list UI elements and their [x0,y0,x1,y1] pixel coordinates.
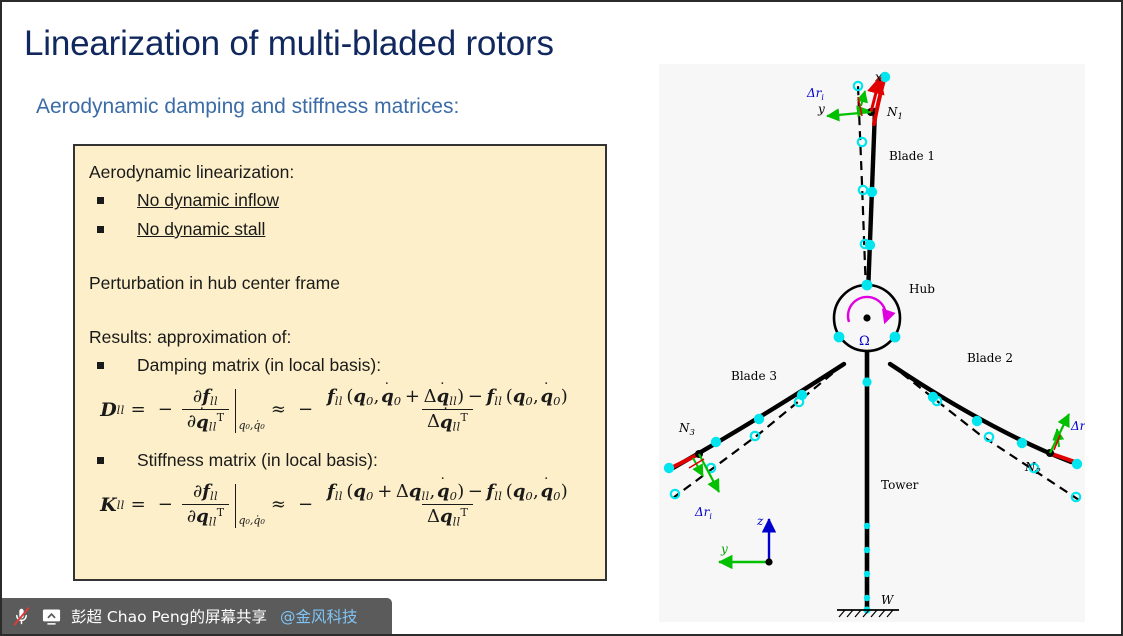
fraction-numerator: ∂fll [188,481,223,504]
blade2-label: Blade 2 [967,351,1013,365]
damping-lhs-subscript: ll [117,403,125,417]
minus-sign: − [298,494,313,515]
blade2-node-dot [1072,459,1082,469]
microphone-muted-icon[interactable] [11,606,32,627]
partial-symbol: ∂ [187,412,196,433]
evaluation-point: q₀,q̇₀ [238,514,264,528]
q-superscript: T [217,411,224,424]
vertical-bar [235,484,236,528]
bullet-no-dynamic-stall: No dynamic stall [137,217,265,242]
blade1-axis-y-arrow [827,112,871,116]
tower-node [864,595,870,601]
content-box: Aerodynamic linearization: No dynamic in… [73,144,607,581]
formula-stiffness-matrix: Kll = − ∂fll ∂qllT q₀,q̇₀ ≈ − fll (q0 + … [89,481,587,528]
damping-lhs-symbol: D [100,399,116,421]
vertical-bar [235,389,236,433]
blade2-deflected-line [890,364,1071,462]
evaluation-bar: q₀,q̇₀ [235,482,265,528]
blade2-node-dot [972,416,982,426]
hub-node-top [862,280,873,291]
blade1-label: Blade 1 [889,149,935,163]
perturbation-paragraph: Perturbation in hub center frame [89,271,587,296]
fraction-denominator: ∂qllT [182,504,229,528]
global-axis-y-label: y [720,542,728,556]
aerodynamic-linearization-heading: Aerodynamic linearization: [89,160,587,185]
spacer [89,245,587,271]
partial-derivative-fraction: ∂fll ∂qllT [182,481,229,528]
bullet-no-dynamic-inflow: No dynamic inflow [137,188,279,213]
stiffness-lhs-symbol: K [100,494,117,516]
blade1-delta-r-label: Δri [806,86,824,102]
results-heading: Results: approximation of: [89,325,587,350]
fraction-denominator: ΔqllT [422,504,473,528]
hub-node-left [834,332,845,343]
q-subscript: ll [209,515,217,529]
blade1-node-label: N1 [886,105,903,122]
bullet-square-icon [97,457,104,464]
blade3-delta-r-label: Δri [694,505,712,521]
bullet-damping-matrix: Damping matrix (in local basis): [137,353,381,378]
hub-center-dot [863,314,870,321]
equals-sign: = [131,399,146,420]
bullet-square-icon [97,362,104,369]
blade3-node-dot [754,414,764,424]
finite-difference-fraction: fll (q0, ˙q0 + Δ˙qll) − fll (q0, ˙q0) Δ˙… [322,386,573,433]
minus-sign: − [298,399,313,420]
blade3-undeflected-line [673,364,844,498]
blade1-axis-y-label: y [817,102,825,116]
fraction-denominator: ∂˙qllT [182,409,229,433]
fraction-numerator: fll (q0 + Δqll, ˙q0) − fll (q0, ˙q0) [322,481,573,504]
fraction-denominator: Δ˙qllT [422,409,473,433]
hub-label: Hub [909,282,935,296]
list-item: Stiffness matrix (in local basis): [89,448,587,473]
tower-node [864,571,870,577]
blade1-axis-x-label: x [875,70,882,84]
blade2-node-label: N2 [1024,460,1041,477]
dot-accent: ˙ [198,407,206,422]
f-subscript: ll [210,489,218,503]
blade3-node-dot [711,437,721,447]
approx-sign: ≈ [271,399,286,420]
bullet-square-icon [97,226,104,233]
page-title: Linearization of multi-bladed rotors [24,24,554,64]
tower-node [864,547,870,553]
blade1-delta-r-arrow [861,91,865,106]
blade2-delta-r-arrow [1050,414,1069,453]
blade1-node-dot [867,187,877,197]
blade3-node-label: N3 [678,421,695,438]
screen-share-taskbar[interactable]: 彭超 Chao Peng的屏幕共享 @金风科技 [2,598,392,634]
partial-symbol: ∂ [187,506,196,527]
approx-sign: ≈ [271,494,286,515]
finite-difference-fraction: fll (q0 + Δqll, ˙q0) − fll (q0, ˙q0) Δql… [322,481,573,528]
presentation-window: Linearization of multi-bladed rotors Aer… [0,0,1123,636]
share-status-text: 彭超 Chao Peng的屏幕共享 [71,605,267,627]
q-dot: ˙q [196,412,209,433]
global-axis-z-label: z [756,514,764,528]
blade2-delta-r-label: Δri [1070,419,1085,435]
tower-node [864,523,870,529]
blade3-node-dot [664,463,674,473]
list-item: Damping matrix (in local basis): [89,353,587,378]
share-company-tag: @金风科技 [280,605,358,627]
q-superscript: T [217,506,224,519]
screen-share-icon[interactable] [41,606,62,627]
global-frame-origin [765,558,772,565]
blade3-label: Blade 3 [731,369,777,383]
bullet-stiffness-matrix: Stiffness matrix (in local basis): [137,448,378,473]
bullet-square-icon [97,197,104,204]
equals-sign: = [131,494,146,515]
list-item: No dynamic stall [89,217,587,242]
section-subtitle: Aerodynamic damping and stiffness matric… [36,95,459,119]
list-item: No dynamic inflow [89,188,587,213]
tower-label: Tower [881,478,919,492]
rotor-diagram-svg: Δri x y N1 Blade 1 Δri N2 Blade 2 [659,64,1085,622]
omega-label: Ω [859,334,870,349]
partial-derivative-fraction: ∂fll ∂˙qllT [182,386,229,433]
evaluation-point: q₀,q̇₀ [238,419,264,433]
blade3-node-dot [797,390,807,400]
f-subscript: ll [210,394,218,408]
ground-label: W [881,593,895,607]
blade1-node-dot [865,240,875,250]
partial-symbol: ∂ [193,481,202,502]
hub-node-right [890,332,901,343]
stiffness-lhs-subscript: ll [117,498,125,512]
spacer [89,299,587,325]
q-symbol: q [196,506,209,527]
minus-sign: − [158,494,173,515]
minus-sign: − [158,399,173,420]
blade1-node-ring [858,138,866,146]
blade2-node-dot [1017,438,1027,448]
formula-damping-matrix: Dll = − ∂fll ∂˙qllT q₀,q̇₀ ≈ − fll (q0, … [89,386,587,433]
q-subscript: ll [209,420,217,434]
blade2-node-dot [928,392,938,402]
evaluation-bar: q₀,q̇₀ [235,387,265,433]
tower-node [862,377,871,386]
f-symbol: f [202,481,210,502]
rotor-diagram-panel: Δri x y N1 Blade 1 Δri N2 Blade 2 [659,64,1085,622]
blade3-delta-r-ref [689,459,704,468]
